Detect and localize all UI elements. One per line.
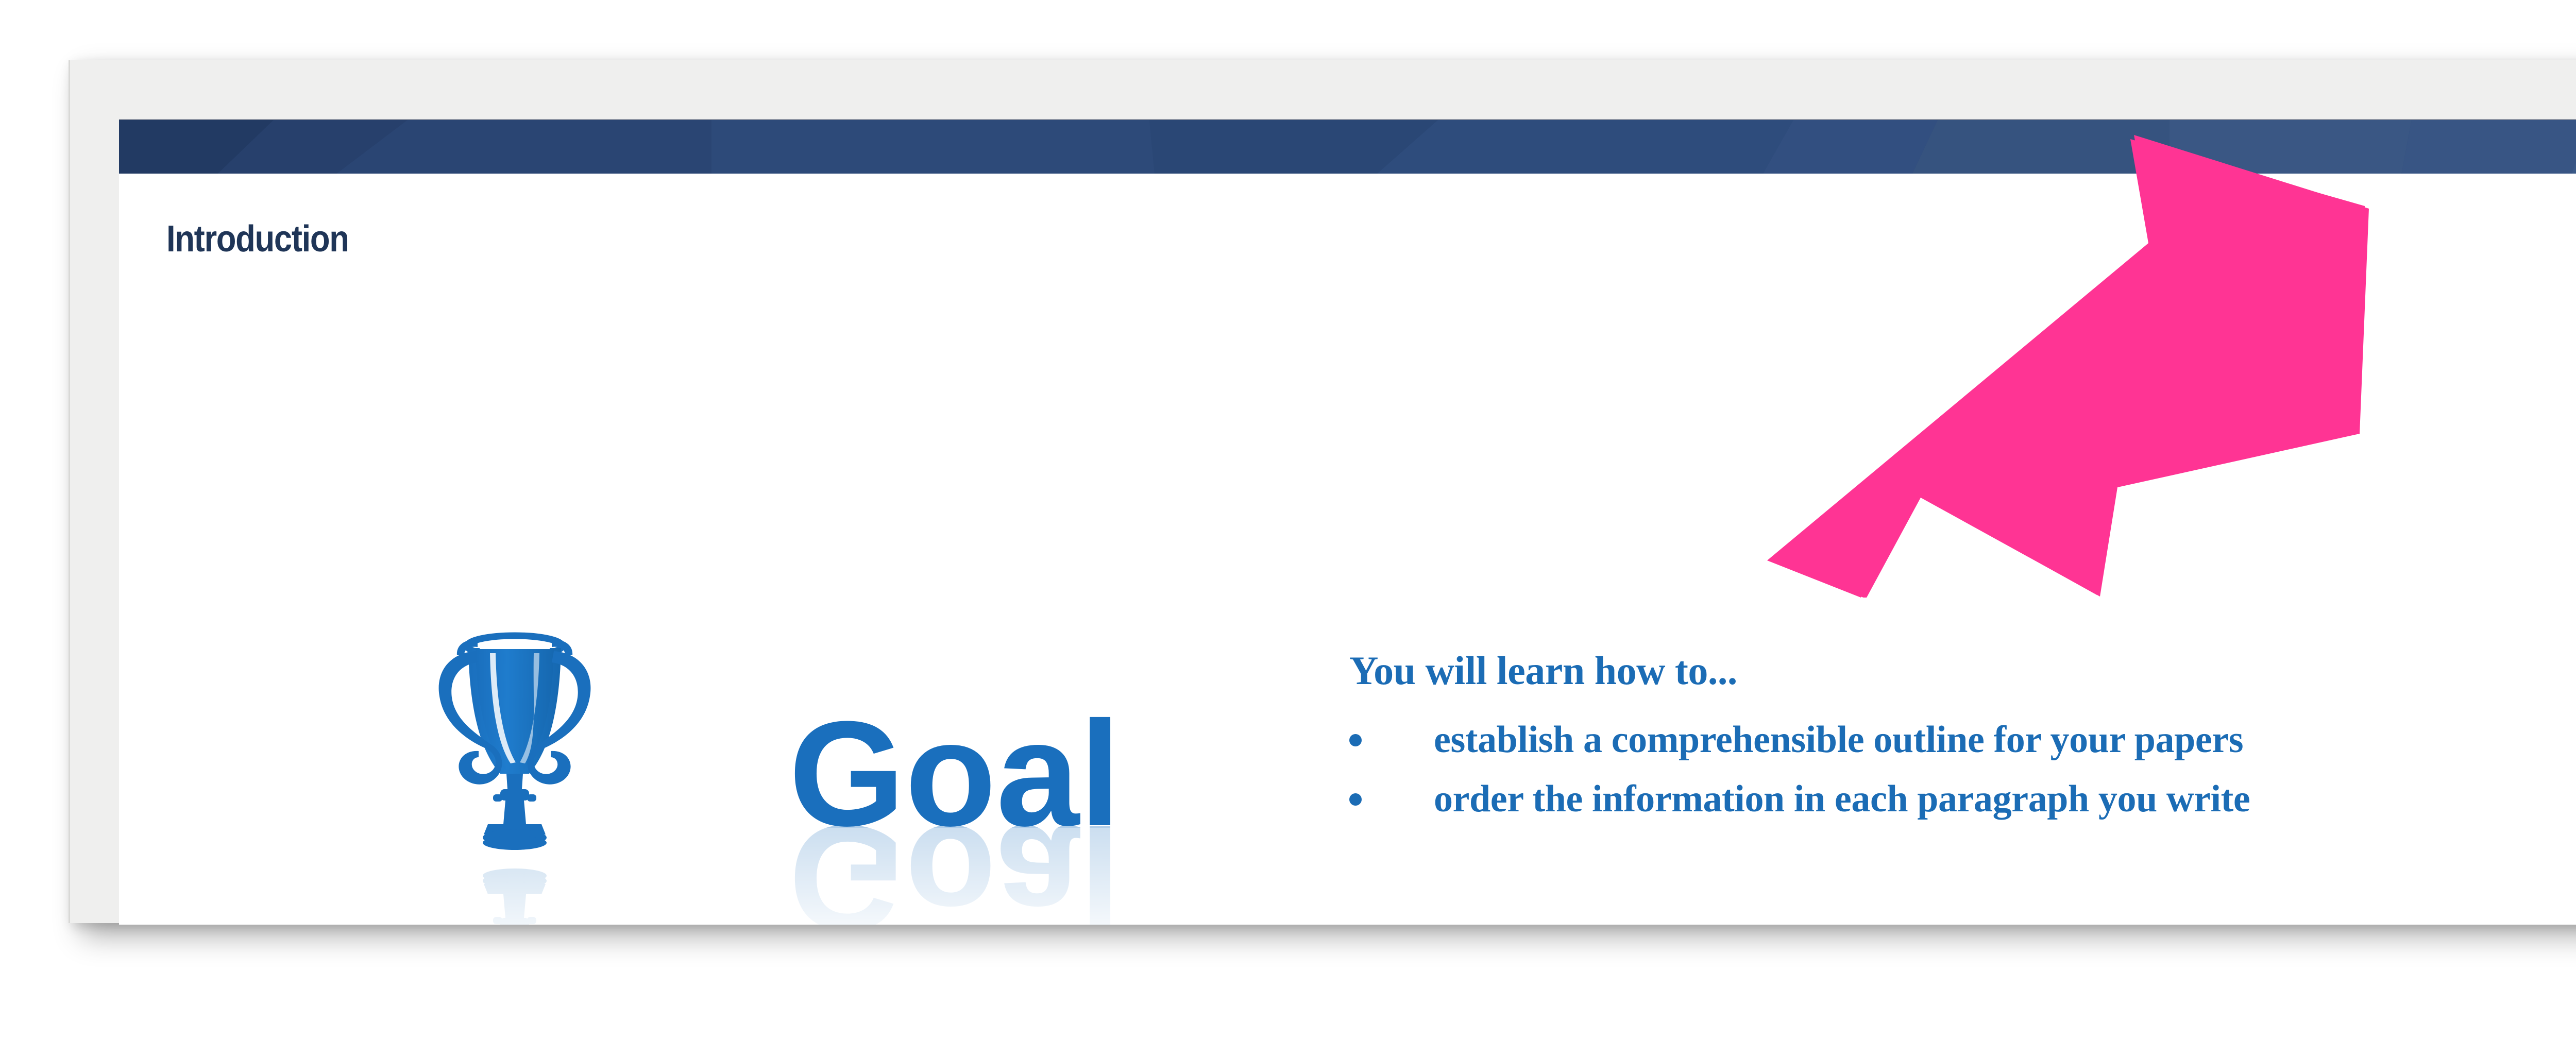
objectives-list: establish a comprehensible outline for y…	[1349, 717, 2576, 823]
objective-text: establish a comprehensible outline for y…	[1434, 717, 2576, 763]
objective-text: order the information in each paragraph …	[1434, 776, 2576, 822]
screenshot-root: Term papers: structures Introduction	[0, 0, 2576, 1039]
course-header-bar: Term papers: structures	[119, 119, 2576, 175]
learning-objectives-block: You will learn how to... establish a com…	[1349, 651, 2576, 836]
trophy-icon	[439, 636, 591, 850]
page-title: Introduction	[166, 218, 349, 260]
round-bullet-icon	[1349, 793, 1362, 806]
slide-content-page: Introduction	[119, 174, 2576, 925]
course-viewer-frame: Term papers: structures Introduction	[69, 60, 2576, 923]
list-item: establish a comprehensible outline for y…	[1349, 717, 2576, 763]
objectives-title: You will learn how to...	[1349, 651, 2576, 691]
round-bullet-icon	[1349, 734, 1362, 746]
list-item: order the information in each paragraph …	[1349, 776, 2576, 822]
header-polygon-texture	[119, 120, 2576, 175]
goal-graphic: Goal Goal	[413, 604, 1216, 925]
